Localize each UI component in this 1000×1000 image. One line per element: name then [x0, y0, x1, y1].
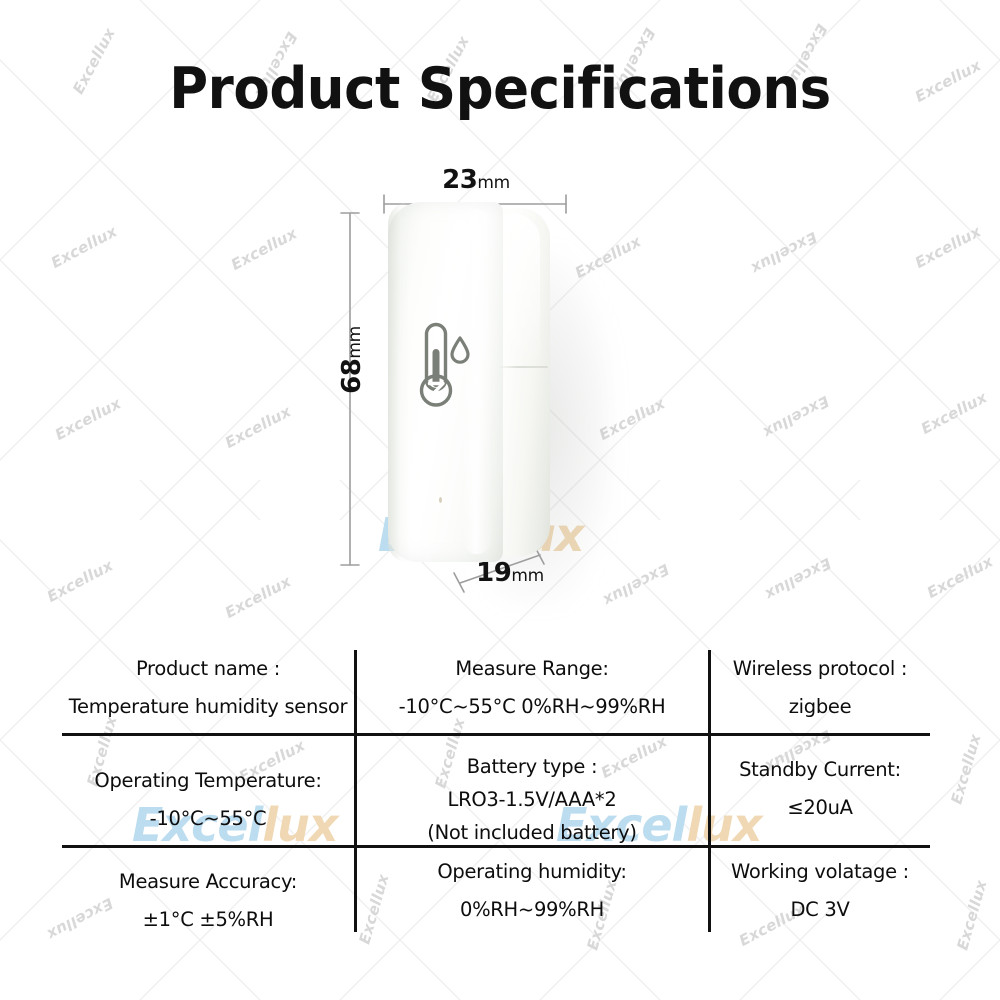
- table-row-divider: [62, 733, 930, 736]
- table-cell: Working volatage : DC 3V: [710, 853, 930, 930]
- table-cell: Battery type : LRO3-1.5V/AAA*2 (Not incl…: [356, 751, 708, 849]
- watermark-word: Excellux: [953, 878, 990, 952]
- cell-label: Measure Range:: [356, 650, 708, 688]
- cell-value: -10°C~55°C 0%RH~99%RH: [356, 688, 708, 726]
- cell-value: ±1°C ±5%RH: [62, 901, 354, 939]
- cell-value-secondary: (Not included battery): [356, 817, 708, 850]
- watermark-word: Excellux: [48, 222, 120, 272]
- cell-value: Temperature humidity sensor: [62, 688, 354, 726]
- cell-label: Measure Accuracy:: [62, 863, 354, 901]
- table-cell: Operating Temperature: -10°C~55°C: [62, 762, 354, 839]
- table-cell: Product name : Temperature humidity sens…: [62, 650, 354, 727]
- product-image-figure: 23mm 68mm 19mm: [330, 165, 670, 605]
- table-cell: Measure Range: -10°C~55°C 0%RH~99%RH: [356, 650, 708, 727]
- device-side-highlight: [500, 214, 540, 364]
- dimension-label-width: 23mm: [396, 165, 556, 195]
- sensor-device-image: [388, 202, 550, 562]
- device-left-shading: [388, 202, 410, 562]
- thermometer-humidity-zigbee-icon: [413, 318, 475, 418]
- watermark-word: Excellux: [762, 554, 834, 604]
- dimension-label-height: 68mm: [337, 320, 367, 400]
- dimension-height-value: 68: [337, 359, 367, 394]
- watermark-word: Excellux: [222, 402, 294, 452]
- cell-label: Wireless protocol :: [710, 650, 930, 688]
- dimension-height-unit: mm: [345, 326, 365, 359]
- watermark-word: Excellux: [52, 394, 124, 444]
- device-seam-line: [498, 366, 548, 368]
- cell-label: Operating humidity:: [356, 853, 708, 891]
- watermark-word: Excellux: [912, 222, 984, 272]
- watermark-word: Excellux: [222, 572, 294, 622]
- dimension-depth-value: 19: [476, 558, 511, 588]
- cell-label: Battery type :: [356, 751, 708, 784]
- cell-label: Working volatage :: [710, 853, 930, 891]
- watermark-word: Excellux: [918, 388, 990, 438]
- dimension-width-unit: mm: [477, 173, 510, 193]
- watermark-word: Excellux: [760, 392, 832, 442]
- watermark-word: Excellux: [748, 228, 820, 278]
- table-cell: Measure Accuracy: ±1°C ±5%RH: [62, 863, 354, 940]
- dimension-label-depth: 19mm: [450, 558, 570, 588]
- watermark-word: Excellux: [924, 552, 996, 602]
- specification-table: Product name : Temperature humidity sens…: [62, 638, 930, 938]
- watermark-word: Excellux: [947, 732, 984, 806]
- table-cell: Operating humidity: 0%RH~99%RH: [356, 853, 708, 930]
- table-cell: Wireless protocol : zigbee: [710, 650, 930, 727]
- table-cell: Standby Current: ≤20uA: [710, 751, 930, 828]
- watermark-word: Excellux: [228, 224, 300, 274]
- cell-label: Operating Temperature:: [62, 762, 354, 800]
- device-indicator-dot: [439, 497, 442, 503]
- cell-value: 0%RH~99%RH: [356, 891, 708, 929]
- dimension-depth-unit: mm: [511, 566, 544, 586]
- cell-label: Product name :: [62, 650, 354, 688]
- product-specification-page: Excellux Excellux Excellux Excellux Exce…: [0, 0, 1000, 1000]
- dimension-width-value: 23: [442, 165, 477, 195]
- cell-value: -10°C~55°C: [62, 800, 354, 838]
- cell-value: LRO3-1.5V/AAA*2: [356, 784, 708, 817]
- cell-value: zigbee: [710, 688, 930, 726]
- page-title: Product Specifications: [35, 56, 965, 122]
- watermark-word: Excellux: [44, 556, 116, 606]
- cell-value: DC 3V: [710, 891, 930, 929]
- cell-value: ≤20uA: [710, 789, 930, 827]
- cell-label: Standby Current:: [710, 751, 930, 789]
